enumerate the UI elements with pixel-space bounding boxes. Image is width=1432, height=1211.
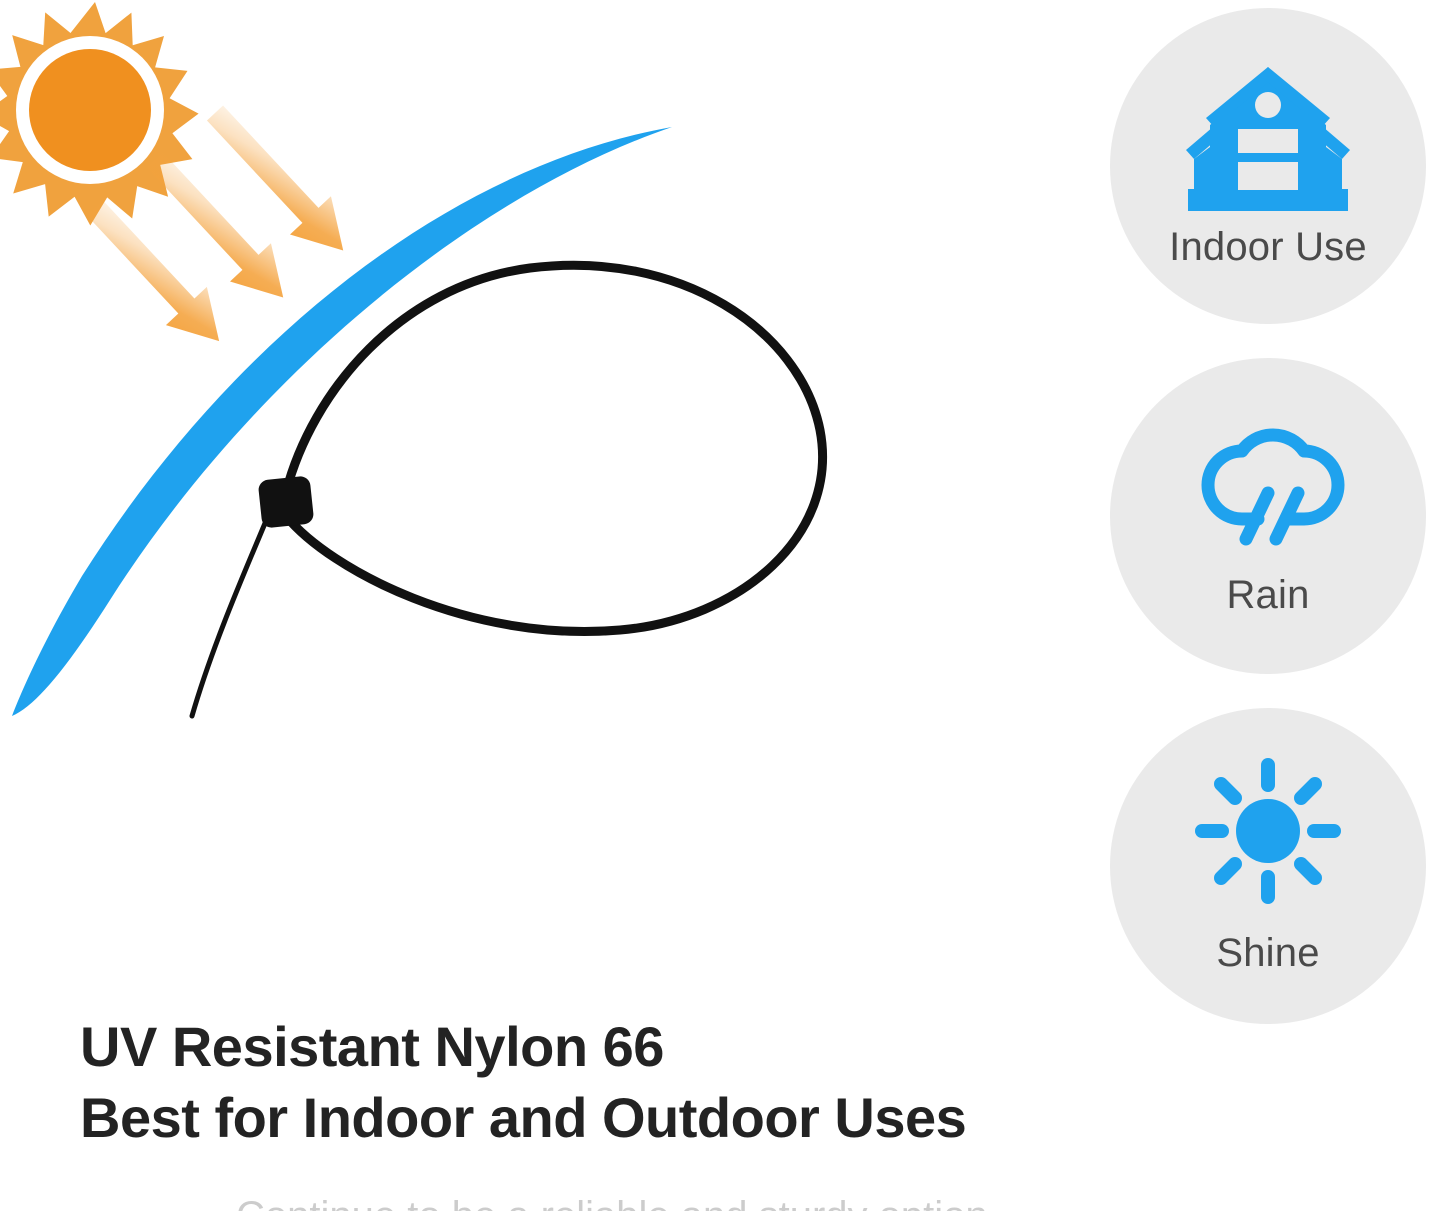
headline-line-1: UV Resistant Nylon 66 [80, 1012, 1080, 1083]
feature-badge-column: Indoor Use Rain [1110, 8, 1428, 1023]
uv-resistance-illustration [0, 0, 1060, 760]
cable-tie-band [286, 265, 823, 631]
sun-core [1236, 799, 1300, 863]
house-icon [1180, 63, 1356, 215]
headline-block: UV Resistant Nylon 66 Best for Indoor an… [80, 1012, 1080, 1153]
cable-tie-tail [192, 516, 268, 716]
sun-core [29, 49, 151, 171]
headline-line-2: Best for Indoor and Outdoor Uses [80, 1083, 1080, 1154]
feature-badge-rain[interactable]: Rain [1110, 358, 1426, 674]
feature-label: Shine [1216, 931, 1319, 976]
feature-label: Rain [1226, 573, 1309, 618]
sun-icon [1194, 757, 1342, 905]
rain-cloud-icon [1182, 415, 1354, 551]
product-infographic: Indoor Use Rain [0, 0, 1432, 1211]
subcaption-text: Continue to be a reliable and sturdy opt… [236, 1196, 1196, 1211]
feature-badge-indoor-use[interactable]: Indoor Use [1110, 8, 1426, 324]
subcaption-clipped: Continue to be a reliable and sturdy opt… [236, 1196, 1196, 1211]
feature-label: Indoor Use [1169, 225, 1367, 270]
sun-burst-icon [0, 2, 199, 226]
feature-badge-shine[interactable]: Shine [1110, 708, 1426, 1024]
cable-tie-head [258, 475, 315, 528]
